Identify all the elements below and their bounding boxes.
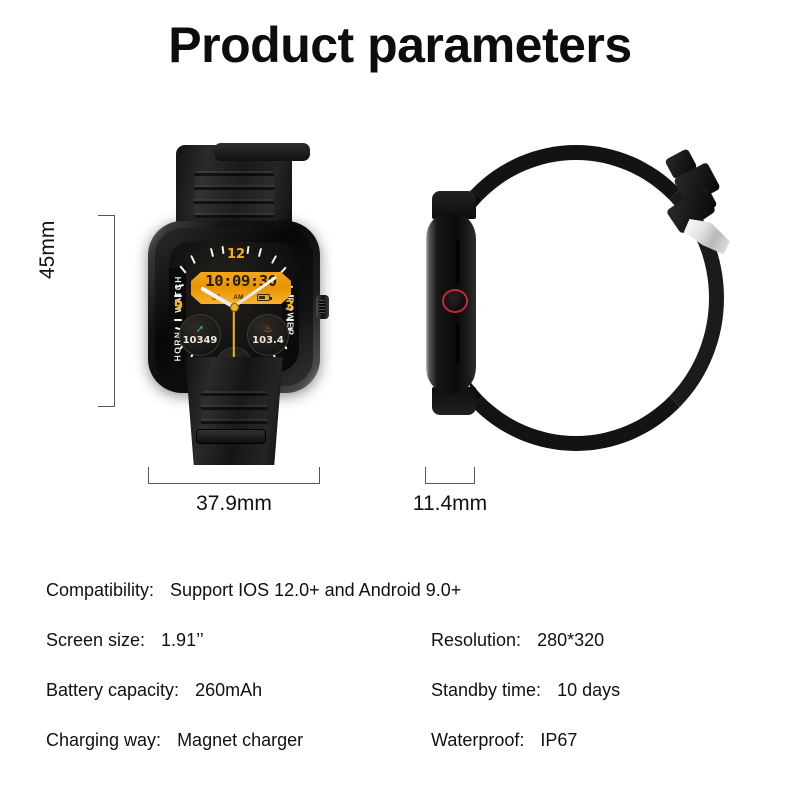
bracket-tick-right: [319, 467, 320, 484]
spec-row: Compatibility: Support IOS 12.0+ and And…: [46, 580, 766, 630]
dimension-label-width: 37.9mm: [148, 492, 320, 516]
band-keeper-loop: [196, 429, 266, 444]
watch-case-side: [426, 213, 476, 393]
product-parameters-page: Product parameters 45mm WATCH HORN: [0, 0, 800, 800]
spec-value: 1.91’’: [161, 630, 204, 651]
spec-value: 280*320: [537, 630, 604, 651]
battery-icon: [257, 294, 270, 301]
spec-item-resolution: Resolution: 280*320: [431, 630, 761, 651]
dimension-label-height: 45mm: [36, 221, 60, 279]
spec-value: IP67: [540, 730, 577, 751]
bracket-tick-bottom: [98, 406, 115, 407]
watch-screen[interactable]: WATCH HORN POWER 12 3 6 9: [169, 242, 299, 372]
band-lug-top: [214, 143, 310, 161]
spec-item-battery-capacity: Battery capacity: 260mAh: [46, 680, 431, 701]
subdial-kcal: ♨ 103.4: [247, 314, 289, 356]
bracket-tick-right: [474, 467, 475, 484]
hour-numeral-12: 12: [227, 247, 245, 262]
spec-row: Charging way: Magnet charger Waterproof:…: [46, 730, 766, 780]
dimension-bracket-width: [148, 465, 320, 485]
spec-value: 10 days: [557, 680, 620, 701]
tick-mark: [210, 248, 214, 257]
spec-value: Support IOS 12.0+ and Android 9.0+: [170, 580, 461, 601]
dimension-bracket-height: [92, 215, 122, 407]
tick-mark: [222, 246, 225, 254]
spec-row: Screen size: 1.91’’ Resolution: 280*320: [46, 630, 766, 680]
spec-row: Battery capacity: 260mAh Standby time: 1…: [46, 680, 766, 730]
shoe-icon: ➚: [196, 325, 204, 335]
spec-item-compatibility: Compatibility: Support IOS 12.0+ and And…: [46, 580, 766, 601]
page-title: Product parameters: [0, 18, 800, 73]
bracket-tick-top: [98, 215, 115, 216]
tick-mark: [286, 319, 294, 321]
flame-icon: ♨: [264, 325, 273, 335]
spec-value: 260mAh: [195, 680, 262, 701]
bracket-tick-left: [425, 467, 426, 484]
spec-item-screen-size: Screen size: 1.91’’: [46, 630, 431, 651]
subdial-steps: ➚ 10349: [179, 314, 221, 356]
watch-buckle: [626, 147, 746, 287]
heart-rate-sensor-icon: [442, 289, 468, 313]
dimension-label-thickness: 11.4mm: [400, 492, 500, 516]
power-button[interactable]: [316, 295, 329, 319]
kcal-value: 103.4: [252, 336, 284, 346]
bracket-bar-horizontal: [425, 483, 475, 484]
watch-front-view: WATCH HORN POWER 12 3 6 9: [148, 145, 320, 465]
bracket-bar-vertical: [114, 215, 115, 407]
spec-value: Magnet charger: [177, 730, 303, 751]
bracket-bar-horizontal: [148, 483, 320, 484]
tick-mark: [190, 255, 196, 264]
hands-center-pin: [230, 303, 239, 312]
spec-key: Charging way:: [46, 730, 161, 751]
spec-key: Screen size:: [46, 630, 145, 651]
tick-mark: [174, 319, 182, 321]
bracket-tick-left: [148, 467, 149, 484]
dimension-bracket-thickness: [425, 465, 475, 485]
watch-band-bottom: [181, 357, 287, 465]
spec-key: Resolution:: [431, 630, 521, 651]
spec-key: Battery capacity:: [46, 680, 179, 701]
spec-key: Waterproof:: [431, 730, 524, 751]
spec-item-waterproof: Waterproof: IP67: [431, 730, 761, 751]
tick-mark: [247, 246, 250, 254]
buckle-metal-tongue: [684, 219, 730, 261]
tick-mark: [174, 295, 182, 297]
spec-item-standby-time: Standby time: 10 days: [431, 680, 761, 701]
spec-list: Compatibility: Support IOS 12.0+ and And…: [46, 580, 766, 780]
spec-item-charging-way: Charging way: Magnet charger: [46, 730, 431, 751]
spec-key: Standby time:: [431, 680, 541, 701]
steps-value: 10349: [183, 336, 218, 346]
hour-numeral-3: 3: [285, 299, 294, 314]
tick-mark: [271, 255, 277, 264]
hour-numeral-9: 9: [174, 299, 183, 314]
watch-side-view: [410, 145, 740, 465]
spec-key: Compatibility:: [46, 580, 154, 601]
tick-mark: [258, 248, 262, 257]
